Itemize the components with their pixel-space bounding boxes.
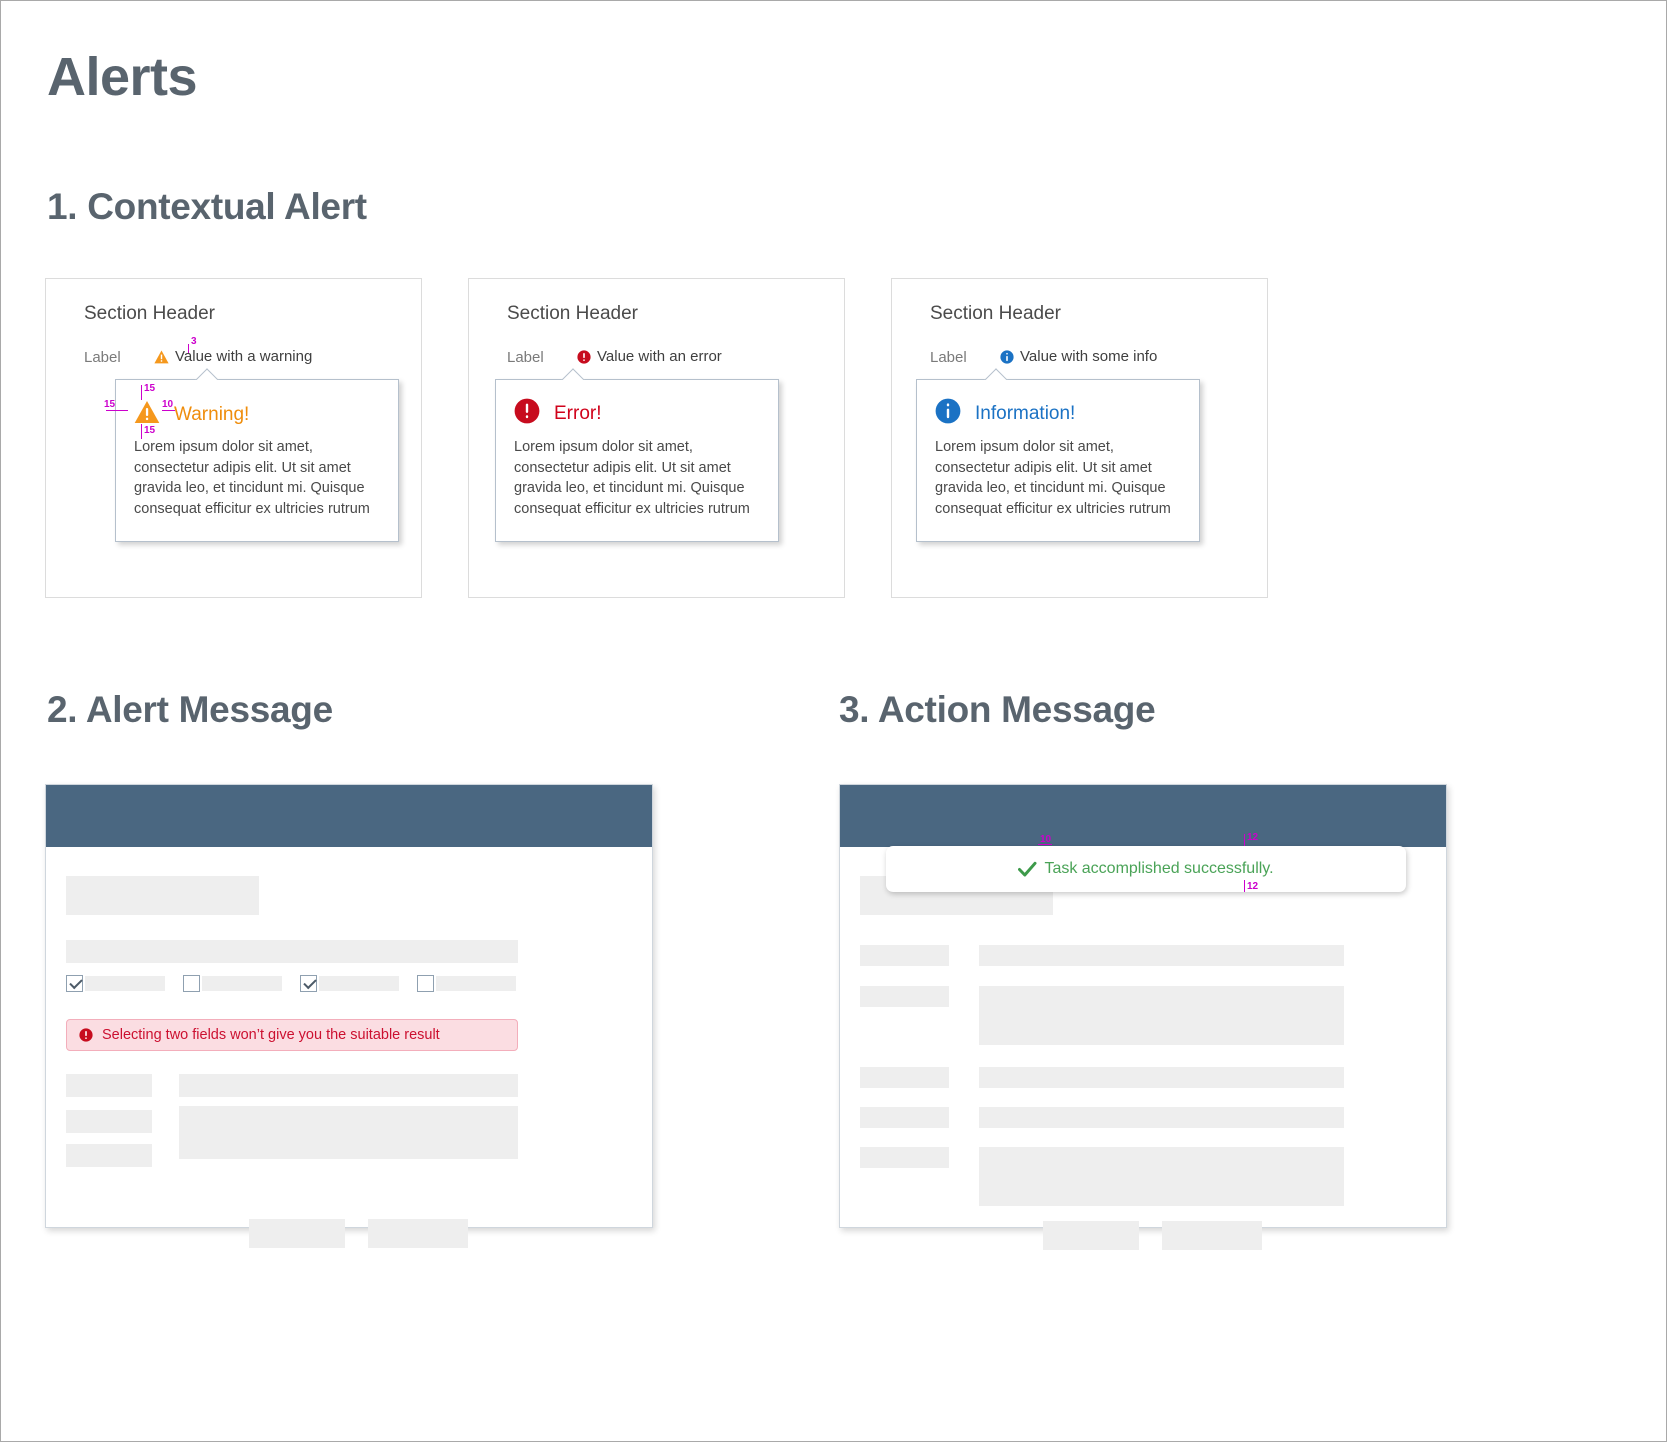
- measurement-tick: [141, 424, 142, 439]
- popover-info: Information! Lorem ipsum dolor sit amet,…: [916, 379, 1200, 542]
- popover-header: Information!: [917, 380, 1199, 429]
- measurement-tick: [141, 385, 142, 400]
- placeholder-label: [860, 1067, 949, 1088]
- placeholder-label: [66, 1110, 152, 1133]
- error-circle-icon[interactable]: [577, 350, 591, 364]
- field-row-error: Label Value with an error: [507, 348, 827, 368]
- error-circle-icon: [79, 1028, 93, 1042]
- success-toast[interactable]: Task accomplished successfully. 10 12 12: [886, 846, 1406, 892]
- popover-title: Warning!: [174, 404, 249, 426]
- field-value: Value with some info: [1020, 348, 1157, 365]
- placeholder-field-row: [66, 940, 518, 963]
- checkbox-label-placeholder: [85, 976, 165, 991]
- inline-error-text: Selecting two fields won’t give you the …: [102, 1027, 440, 1043]
- placeholder-field: [979, 1067, 1344, 1088]
- field-value-wrap: Value with an error: [577, 348, 722, 365]
- contextual-alert-card-error: Section Header Label Value with an error…: [468, 278, 845, 598]
- warning-triangle-icon[interactable]: [154, 350, 169, 364]
- section-header-label: Section Header: [930, 303, 1061, 325]
- popover-arrow: [195, 368, 219, 380]
- measurement-value-gap: 3: [191, 337, 197, 347]
- checkbox-item-2[interactable]: [183, 975, 282, 992]
- checkbox-checked-icon[interactable]: [300, 975, 317, 992]
- measurement-popover-bottom: 15: [144, 426, 155, 436]
- checkbox-item-3[interactable]: [300, 975, 399, 992]
- placeholder-label: [860, 945, 949, 966]
- measurement-icon-to-title: 10: [162, 400, 173, 410]
- placeholder-textarea: [979, 1147, 1344, 1206]
- inline-error-banner: Selecting two fields won’t give you the …: [66, 1019, 518, 1051]
- checkbox-unchecked-icon[interactable]: [417, 975, 434, 992]
- placeholder-textarea: [979, 986, 1344, 1045]
- checkbox-label-placeholder: [202, 976, 282, 991]
- check-mark-icon: [1018, 861, 1037, 878]
- placeholder-label: [66, 1144, 152, 1167]
- field-label: Label: [507, 349, 544, 366]
- error-circle-icon: [514, 398, 540, 429]
- contextual-alert-card-info: Section Header Label Value with some inf…: [891, 278, 1268, 598]
- placeholder-label: [860, 1147, 949, 1168]
- placeholder-field: [979, 945, 1344, 966]
- measurement-rule: [1038, 844, 1052, 845]
- alerts-style-guide-page: Alerts 1. Contextual Alert Section Heade…: [0, 0, 1667, 1442]
- placeholder-primary-button[interactable]: [1043, 1221, 1139, 1250]
- placeholder-label: [860, 986, 949, 1007]
- measurement-popover-top: 15: [144, 384, 155, 394]
- field-value: Value with an error: [597, 348, 722, 365]
- checkbox-label-placeholder: [436, 976, 516, 991]
- page-title: Alerts: [47, 46, 197, 108]
- section-header-label: Section Header: [507, 303, 638, 325]
- checkbox-unchecked-icon[interactable]: [183, 975, 200, 992]
- placeholder-textarea: [179, 1106, 518, 1159]
- placeholder-field: [179, 1074, 518, 1097]
- info-circle-icon: [935, 398, 961, 429]
- popover-arrow: [561, 368, 585, 380]
- contextual-alert-card-warning: Section Header Label Value with a warnin…: [45, 278, 422, 598]
- measurement-tick: [1244, 880, 1245, 892]
- measurement-padding-top: 12: [1247, 833, 1258, 843]
- measurement-tick: [1244, 834, 1245, 846]
- placeholder-primary-button[interactable]: [249, 1219, 345, 1248]
- placeholder-field: [979, 1107, 1344, 1128]
- field-value: Value with a warning: [175, 348, 312, 365]
- section-title-contextual-alert: 1. Contextual Alert: [47, 186, 367, 228]
- popover-body: Lorem ipsum dolor sit amet, consectetur …: [917, 429, 1199, 541]
- section-title-alert-message: 2. Alert Message: [47, 689, 333, 731]
- field-label: Label: [930, 349, 967, 366]
- placeholder-secondary-button[interactable]: [1162, 1221, 1262, 1250]
- panel-header-bar: [46, 785, 652, 847]
- popover-body: Lorem ipsum dolor sit amet, consectetur …: [496, 429, 778, 541]
- panel-body: Selecting two fields won’t give you the …: [46, 847, 652, 1227]
- alert-message-panel: Selecting two fields won’t give you the …: [45, 784, 653, 1228]
- popover-error: Error! Lorem ipsum dolor sit amet, conse…: [495, 379, 779, 542]
- field-label: Label: [84, 349, 121, 366]
- checkbox-item-1[interactable]: [66, 975, 165, 992]
- placeholder-label: [66, 1074, 152, 1097]
- field-value-wrap: Value with some info: [1000, 348, 1157, 365]
- checkbox-label-placeholder: [319, 976, 399, 991]
- placeholder-label: [860, 1107, 949, 1128]
- measurement-tick: [188, 344, 189, 353]
- measurement-rule: [106, 410, 128, 411]
- panel-header-bar: [840, 785, 1446, 847]
- popover-header: Warning!: [116, 380, 398, 429]
- placeholder-secondary-button[interactable]: [368, 1219, 468, 1248]
- checkbox-checked-icon[interactable]: [66, 975, 83, 992]
- field-row-warning: Label Value with a warning 3: [84, 348, 404, 368]
- popover-arrow: [984, 368, 1008, 380]
- panel-body: Task accomplished successfully. 10 12 12: [840, 847, 1446, 1227]
- checkbox-item-4[interactable]: [417, 975, 516, 992]
- success-toast-text: Task accomplished successfully.: [1044, 860, 1273, 878]
- field-row-info: Label Value with some info: [930, 348, 1250, 368]
- measurement-padding-bottom: 12: [1247, 882, 1258, 892]
- placeholder-title-block: [66, 876, 259, 915]
- section-title-action-message: 3. Action Message: [839, 689, 1155, 731]
- popover-title: Error!: [554, 403, 602, 425]
- popover-title: Information!: [975, 403, 1075, 425]
- measurement-popover-left: 15: [104, 400, 115, 410]
- field-value-wrap: Value with a warning: [154, 348, 312, 365]
- popover-header: Error!: [496, 380, 778, 429]
- action-message-panel: Task accomplished successfully. 10 12 12: [839, 784, 1447, 1228]
- section-header-label: Section Header: [84, 303, 215, 325]
- measurement-rule: [162, 410, 175, 411]
- info-circle-icon[interactable]: [1000, 350, 1014, 364]
- popover-warning: 15 15 10 15 Warning! Lorem ipsum dolor s…: [115, 379, 399, 542]
- popover-body: Lorem ipsum dolor sit amet, consectetur …: [116, 429, 398, 541]
